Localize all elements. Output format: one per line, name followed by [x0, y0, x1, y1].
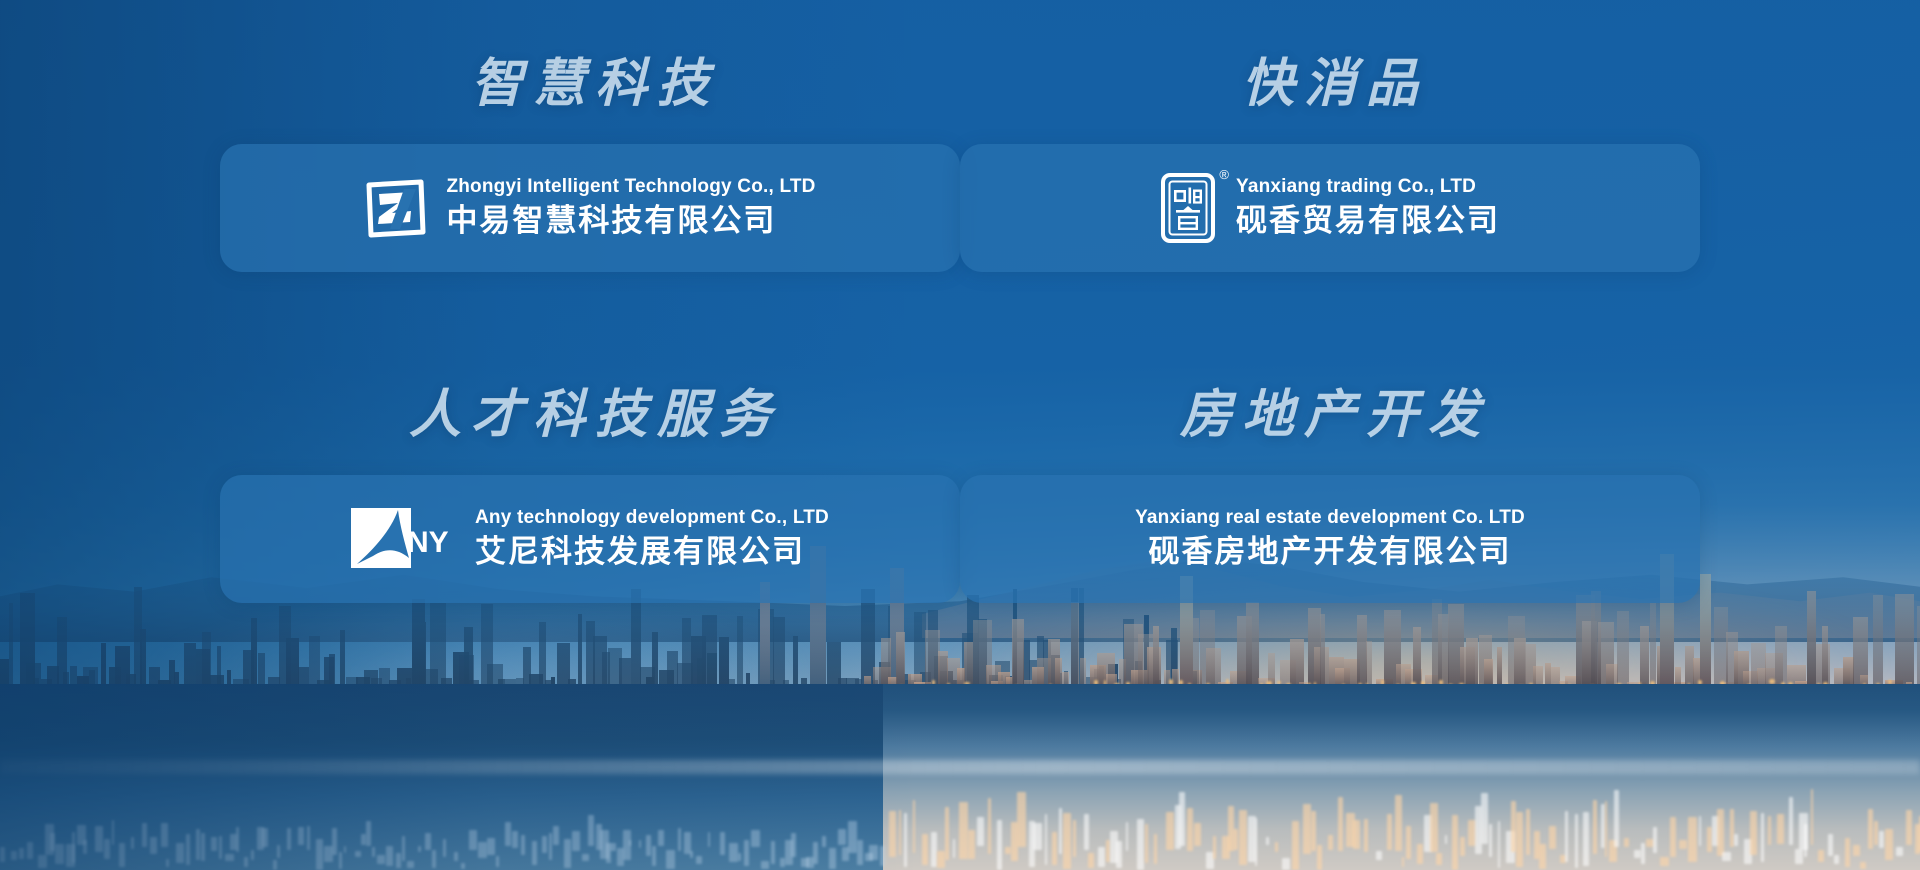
zhongyi-z-logo-icon — [364, 177, 426, 239]
sector-cell-fmcg: 快消品 — [960, 58, 1700, 389]
company-name-en-yanxiang-real-estate: Yanxiang real estate development Co. LTD — [1135, 506, 1525, 530]
sector-title-talent-services: 人才科技服务 — [220, 389, 960, 441]
sector-cell-smart-technology: 智慧科技 Zhongyi Intelligent Technology Co.,… — [220, 58, 960, 389]
company-name-cn-zhongyi: 中易智慧科技有限公司 — [446, 201, 815, 241]
company-card-any[interactable]: NY Any technology development Co., LTD 艾… — [220, 475, 960, 603]
company-name-en-zhongyi: Zhongyi Intelligent Technology Co., LTD — [446, 175, 815, 199]
company-name-cn-yanxiang-real-estate: 砚香房地产开发有限公司 — [1149, 532, 1512, 572]
yanxiang-seal-logo-icon: ® — [1160, 172, 1216, 244]
company-card-yanxiang-real-estate[interactable]: Yanxiang real estate development Co. LTD… — [960, 475, 1700, 603]
sector-cell-talent-services: 人才科技服务 NY Any technology development Co.… — [220, 389, 960, 720]
any-mountain-logo-icon: NY — [351, 508, 455, 570]
business-sectors-banner: 智慧科技 Zhongyi Intelligent Technology Co.,… — [0, 0, 1920, 870]
company-card-zhongyi[interactable]: Zhongyi Intelligent Technology Co., LTD … — [220, 144, 960, 272]
registered-trademark-icon: ® — [1219, 168, 1229, 181]
sector-title-fmcg: 快消品 — [960, 58, 1700, 110]
sector-cell-real-estate: 房地产开发 Yanxiang real estate development C… — [960, 389, 1700, 720]
company-name-en-any: Any technology development Co., LTD — [475, 506, 829, 530]
company-card-yanxiang-trading[interactable]: ® Yanxiang trading Co., LTD 砚香贸易有限公司 — [960, 144, 1700, 272]
company-name-en-yanxiang-trading: Yanxiang trading Co., LTD — [1236, 175, 1500, 199]
sector-title-real-estate: 房地产开发 — [960, 389, 1700, 441]
company-name-cn-yanxiang-trading: 砚香贸易有限公司 — [1236, 201, 1500, 241]
svg-text:NY: NY — [407, 526, 449, 559]
sector-title-smart-technology: 智慧科技 — [220, 58, 960, 110]
company-name-cn-any: 艾尼科技发展有限公司 — [475, 532, 829, 572]
sectors-grid: 智慧科技 Zhongyi Intelligent Technology Co.,… — [0, 0, 1920, 870]
